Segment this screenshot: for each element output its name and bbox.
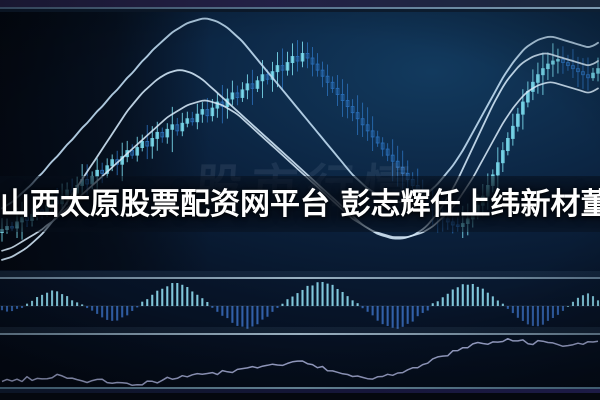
stock-chart-banner: 股市行情 山西太原股票配资网平台 彭志辉任上纬新材董事长: [0, 0, 600, 400]
headline-text: 山西太原股票配资网平台 彭志辉任上纬新材董事长: [0, 186, 600, 224]
top-rail-upper: [0, 0, 600, 7]
macd-histogram: [1, 282, 599, 329]
bottom-rail-edge: [0, 393, 600, 400]
indicator-line: [2, 339, 598, 386]
top-rail-lower: [0, 9, 600, 12]
panel-divider-macd-indicator: [0, 333, 600, 335]
panel-divider-price-macd: [0, 277, 600, 279]
